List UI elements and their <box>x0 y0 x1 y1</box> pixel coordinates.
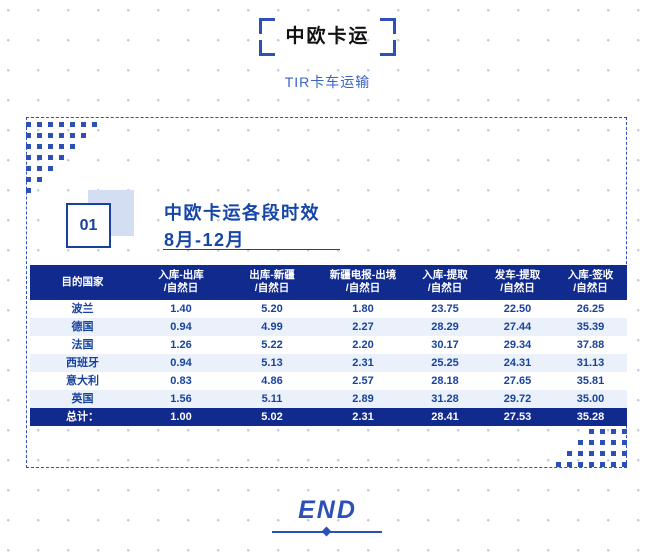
cell-value-1: 0.83 <box>135 372 227 390</box>
decor-dot <box>59 155 64 160</box>
section-number-badge: 01 <box>66 203 111 248</box>
decor-dot <box>567 451 572 456</box>
cell-value-5: 27.65 <box>481 372 554 390</box>
table-total-row: 总计：1.005.022.3128.4127.5335.28 <box>30 408 627 426</box>
cell-value-4: 28.29 <box>409 318 481 336</box>
cell-value-4: 31.28 <box>409 390 481 408</box>
decor-dot <box>578 462 583 467</box>
table-row: 英国1.565.112.8931.2829.7235.00 <box>30 390 627 408</box>
column-header-1: 入库-出库 /自然日 <box>135 265 227 300</box>
column-header-3: 新疆电报-出境 /自然日 <box>317 265 409 300</box>
decor-dot <box>37 166 42 171</box>
column-header-5: 发车-提取 /自然日 <box>481 265 554 300</box>
table-row: 德国0.944.992.2728.2927.4435.39 <box>30 318 627 336</box>
decor-dot <box>59 122 64 127</box>
bracket-bottom-left-icon <box>259 40 275 56</box>
cell-value-6: 35.39 <box>554 318 627 336</box>
cell-value-1: 1.40 <box>135 300 227 318</box>
decor-dot <box>70 122 75 127</box>
decor-dot <box>26 177 31 182</box>
cell-value-6: 26.25 <box>554 300 627 318</box>
cell-value-1: 0.94 <box>135 354 227 372</box>
cell-value-5: 27.53 <box>481 408 554 426</box>
decor-dot <box>48 133 53 138</box>
decor-dot <box>578 451 583 456</box>
cell-value-2: 4.86 <box>227 372 317 390</box>
table-row: 波兰1.405.201.8023.7522.5026.25 <box>30 300 627 318</box>
cell-value-6: 37.88 <box>554 336 627 354</box>
decor-dot <box>26 166 31 171</box>
table-row: 西班牙0.945.132.3125.2524.3131.13 <box>30 354 627 372</box>
column-header-country: 目的国家 <box>30 265 135 300</box>
decor-dot <box>578 440 583 445</box>
cell-value-1: 0.94 <box>135 318 227 336</box>
decor-dot <box>81 122 86 127</box>
cell-value-4: 30.17 <box>409 336 481 354</box>
decor-dot <box>26 144 31 149</box>
transit-time-table: 目的国家 入库-出库 /自然日 出库-新疆 /自然日 新疆电报-出境 /自然日 … <box>30 265 627 426</box>
cell-value-5: 24.31 <box>481 354 554 372</box>
decor-dot <box>611 451 616 456</box>
cell-value-3: 2.89 <box>317 390 409 408</box>
decor-dot <box>48 144 53 149</box>
decor-dot <box>48 122 53 127</box>
decor-dot <box>70 133 75 138</box>
cell-value-2: 4.99 <box>227 318 317 336</box>
decor-dot <box>600 429 605 434</box>
cell-value-1: 1.56 <box>135 390 227 408</box>
table-row: 意大利0.834.862.5728.1827.6535.81 <box>30 372 627 390</box>
section-heading-underline <box>163 249 340 250</box>
decor-dot <box>600 451 605 456</box>
cell-value-6: 31.13 <box>554 354 627 372</box>
cell-value-3: 2.31 <box>317 408 409 426</box>
decor-dot <box>589 462 594 467</box>
cell-value-1: 1.26 <box>135 336 227 354</box>
decor-dot <box>622 440 627 445</box>
cell-country: 西班牙 <box>30 354 135 372</box>
decor-dot <box>37 144 42 149</box>
page-subtitle: TIR卡车运输 <box>0 72 655 92</box>
column-header-4: 入库-提取 /自然日 <box>409 265 481 300</box>
cell-value-1: 1.00 <box>135 408 227 426</box>
decor-dot <box>37 177 42 182</box>
decor-dot <box>600 462 605 467</box>
end-diamond-icon <box>322 527 332 537</box>
cell-value-4: 28.18 <box>409 372 481 390</box>
cell-value-5: 22.50 <box>481 300 554 318</box>
bracket-top-right-icon <box>380 18 396 34</box>
decor-dot <box>622 429 627 434</box>
cell-value-4: 23.75 <box>409 300 481 318</box>
decor-dot <box>37 122 42 127</box>
cell-value-2: 5.20 <box>227 300 317 318</box>
table-header-row: 目的国家 入库-出库 /自然日 出库-新疆 /自然日 新疆电报-出境 /自然日 … <box>30 265 627 300</box>
cell-value-5: 29.34 <box>481 336 554 354</box>
decor-dot <box>611 462 616 467</box>
cell-value-6: 35.28 <box>554 408 627 426</box>
title-bracket-frame: 中欧卡运 <box>259 18 395 56</box>
cell-country: 波兰 <box>30 300 135 318</box>
decor-dot <box>26 155 31 160</box>
title-block: 中欧卡运 <box>0 18 655 56</box>
page-title: 中欧卡运 <box>285 25 369 49</box>
decor-dot <box>567 462 572 467</box>
cell-value-2: 5.11 <box>227 390 317 408</box>
decor-dot <box>26 133 31 138</box>
cell-value-5: 27.44 <box>481 318 554 336</box>
cell-country: 德国 <box>30 318 135 336</box>
end-label: END <box>298 496 357 524</box>
cell-value-2: 5.22 <box>227 336 317 354</box>
decor-dot <box>600 440 605 445</box>
cell-value-3: 2.20 <box>317 336 409 354</box>
cell-value-3: 2.57 <box>317 372 409 390</box>
cell-value-4: 28.41 <box>409 408 481 426</box>
decor-dot <box>92 122 97 127</box>
cell-value-2: 5.13 <box>227 354 317 372</box>
cell-value-4: 25.25 <box>409 354 481 372</box>
table-row: 法国1.265.222.2030.1729.3437.88 <box>30 336 627 354</box>
cell-value-3: 1.80 <box>317 300 409 318</box>
decor-dot <box>48 166 53 171</box>
decor-dot <box>622 462 627 467</box>
section-number-label: 01 <box>68 205 109 246</box>
cell-value-2: 5.02 <box>227 408 317 426</box>
decor-dot <box>611 440 616 445</box>
cell-country: 英国 <box>30 390 135 408</box>
decor-dot <box>556 462 561 467</box>
decor-dot <box>37 155 42 160</box>
bracket-top-left-icon <box>259 18 275 34</box>
decor-dot <box>70 144 75 149</box>
cell-value-3: 2.31 <box>317 354 409 372</box>
decor-dot <box>622 451 627 456</box>
bracket-bottom-right-icon <box>380 40 396 56</box>
decor-dot <box>81 133 86 138</box>
cell-value-6: 35.00 <box>554 390 627 408</box>
decor-dot <box>26 188 31 193</box>
decor-dot <box>37 133 42 138</box>
decor-dot <box>611 429 616 434</box>
cell-value-3: 2.27 <box>317 318 409 336</box>
decor-dot <box>589 429 594 434</box>
cell-country: 意大利 <box>30 372 135 390</box>
decor-dot <box>59 144 64 149</box>
decor-dot <box>26 122 31 127</box>
cell-country: 法国 <box>30 336 135 354</box>
decor-dot <box>589 451 594 456</box>
column-header-2: 出库-新疆 /自然日 <box>227 265 317 300</box>
cell-value-5: 29.72 <box>481 390 554 408</box>
column-header-6: 入库-签收 /自然日 <box>554 265 627 300</box>
section-heading-primary: 中欧卡运各段时效 <box>164 199 320 225</box>
decor-dot <box>48 155 53 160</box>
decor-dot <box>59 133 64 138</box>
decor-dot <box>589 440 594 445</box>
cell-country: 总计： <box>30 408 135 426</box>
cell-value-6: 35.81 <box>554 372 627 390</box>
end-block: END <box>0 496 655 525</box>
